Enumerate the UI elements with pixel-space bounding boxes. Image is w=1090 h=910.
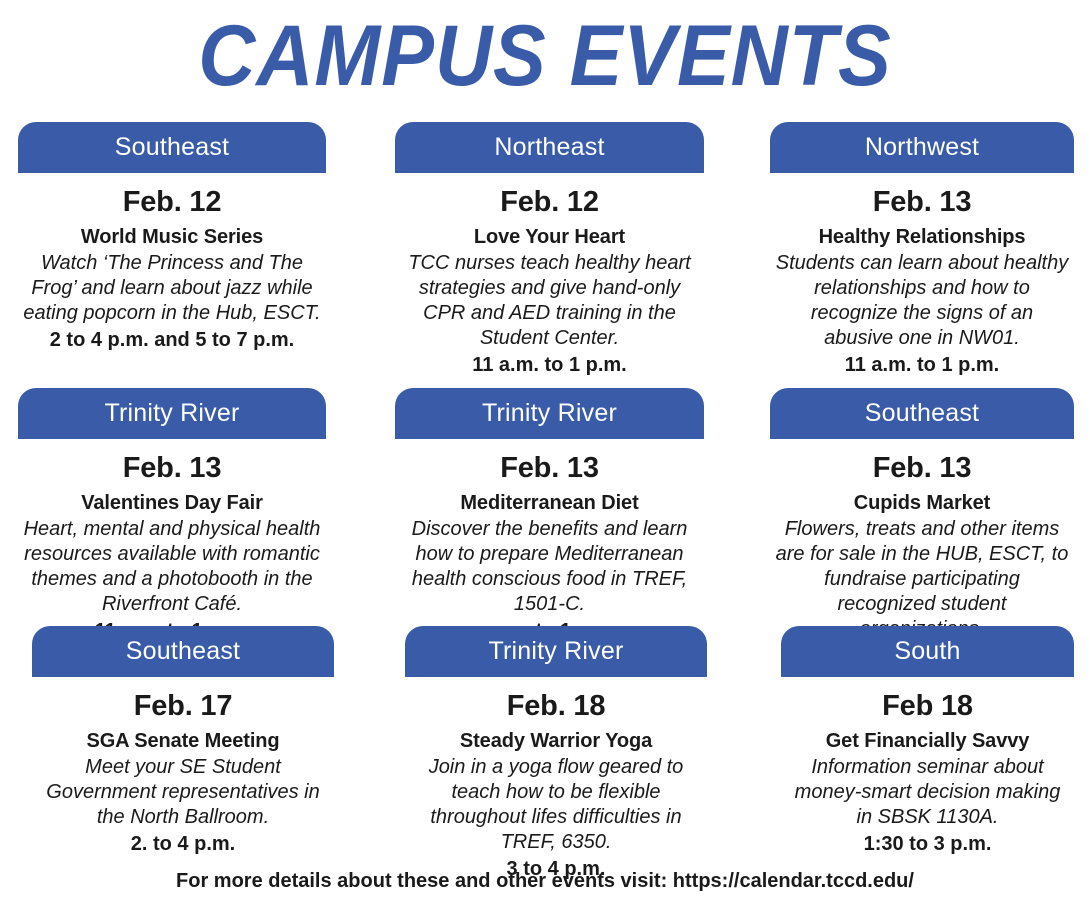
event-description: Watch ‘The Princess and The Frog’ and le…: [20, 251, 324, 326]
event-card-body: Feb. 12 Love Your Heart TCC nurses teach…: [395, 185, 704, 378]
campus-banner: Southeast: [32, 626, 334, 677]
event-date: Feb. 17: [34, 689, 332, 723]
event-date: Feb. 12: [397, 185, 702, 219]
page-title: CAMPUS EVENTS: [44, 6, 1047, 106]
event-time: 11 a.m. to 1 p.m.: [772, 352, 1072, 378]
campus-banner: Southeast: [18, 122, 326, 173]
event-date: Feb. 13: [20, 451, 324, 485]
event-description: Join in a yoga flow geared to teach how …: [407, 755, 705, 855]
event-name: SGA Senate Meeting: [34, 728, 332, 754]
event-name: Healthy Relationships: [772, 224, 1072, 250]
campus-banner: South: [781, 626, 1074, 677]
event-name: Valentines Day Fair: [20, 490, 324, 516]
event-date: Feb 18: [783, 689, 1072, 723]
event-description: TCC nurses teach healthy heart strategie…: [397, 251, 702, 351]
campus-banner: Trinity River: [18, 388, 326, 439]
event-date: Feb. 13: [772, 451, 1072, 485]
campus-banner: Trinity River: [395, 388, 704, 439]
events-grid: Southeast Feb. 12 World Music Series Wat…: [0, 122, 1090, 856]
campus-banner: Southeast: [770, 388, 1074, 439]
event-name: Mediterranean Diet: [397, 490, 702, 516]
campus-banner: Trinity River: [405, 626, 707, 677]
event-description: Information seminar about money-smart de…: [783, 755, 1072, 830]
event-description: Discover the benefits and learn how to p…: [397, 517, 702, 617]
event-card-body: Feb. 17 SGA Senate Meeting Meet your SE …: [32, 689, 334, 857]
event-card-body: Feb. 12 World Music Series Watch ‘The Pr…: [18, 185, 326, 353]
event-card: Northwest Feb. 13 Healthy Relationships …: [770, 122, 1074, 378]
event-name: Get Financially Savvy: [783, 728, 1072, 754]
campus-banner: Northeast: [395, 122, 704, 173]
footer-details-link[interactable]: For more details about these and other e…: [0, 868, 1090, 894]
event-date: Feb. 13: [772, 185, 1072, 219]
event-description: Heart, mental and physical health resour…: [20, 517, 324, 617]
event-date: Feb. 13: [397, 451, 702, 485]
event-card: Northeast Feb. 12 Love Your Heart TCC nu…: [395, 122, 704, 378]
event-card: Trinity River Feb. 18 Steady Warrior Yog…: [405, 626, 707, 882]
event-card-body: Feb. 13 Valentines Day Fair Heart, menta…: [18, 451, 326, 644]
event-time: 2 to 4 p.m. and 5 to 7 p.m.: [20, 327, 324, 353]
event-card-body: Feb. 13 Healthy Relationships Students c…: [770, 185, 1074, 378]
event-card-body: Feb 18 Get Financially Savvy Information…: [781, 689, 1074, 857]
event-description: Students can learn about healthy relatio…: [772, 251, 1072, 351]
event-card: Southeast Feb. 12 World Music Series Wat…: [18, 122, 326, 353]
event-card: Trinity River Feb. 13 Valentines Day Fai…: [18, 388, 326, 644]
event-name: World Music Series: [20, 224, 324, 250]
events-row: Trinity River Feb. 13 Valentines Day Fai…: [0, 388, 1090, 626]
event-description: Flowers, treats and other items are for …: [772, 517, 1072, 642]
event-time: 11 a.m. to 1 p.m.: [397, 352, 702, 378]
event-card: South Feb 18 Get Financially Savvy Infor…: [781, 626, 1074, 857]
event-card: Southeast Feb. 17 SGA Senate Meeting Mee…: [32, 626, 334, 857]
event-name: Love Your Heart: [397, 224, 702, 250]
event-description: Meet your SE Student Government represen…: [34, 755, 332, 830]
event-name: Cupids Market: [772, 490, 1072, 516]
event-date: Feb. 18: [407, 689, 705, 723]
event-time: 2. to 4 p.m.: [34, 831, 332, 857]
event-card: Trinity River Feb. 13 Mediterranean Diet…: [395, 388, 704, 644]
events-row: Southeast Feb. 17 SGA Senate Meeting Mee…: [0, 626, 1090, 856]
event-name: Steady Warrior Yoga: [407, 728, 705, 754]
event-time: 1:30 to 3 p.m.: [783, 831, 1072, 857]
events-row: Southeast Feb. 12 World Music Series Wat…: [0, 122, 1090, 388]
event-card-body: Feb. 18 Steady Warrior Yoga Join in a yo…: [405, 689, 707, 882]
event-card-body: Feb. 13 Mediterranean Diet Discover the …: [395, 451, 704, 644]
event-date: Feb. 12: [20, 185, 324, 219]
campus-banner: Northwest: [770, 122, 1074, 173]
